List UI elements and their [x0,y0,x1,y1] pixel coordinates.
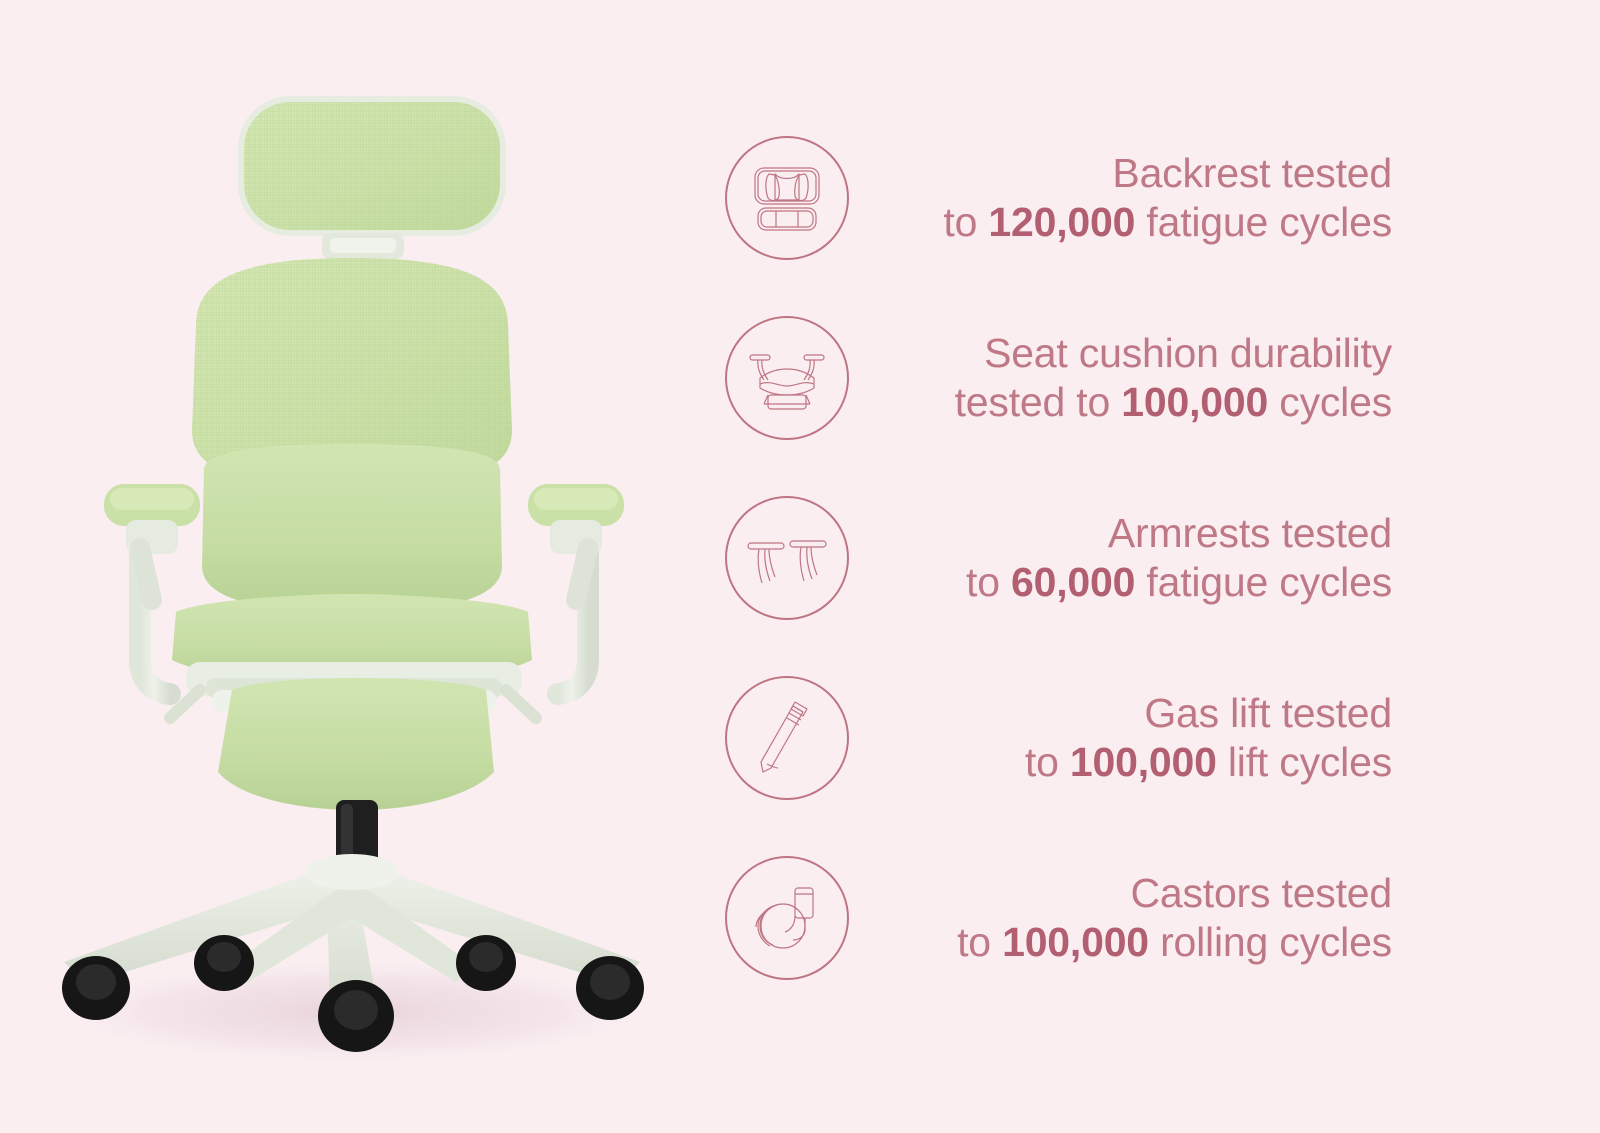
line2-prefix: tested to [955,379,1122,425]
feature-line-1: Armrests tested [849,509,1392,558]
armrest-right [528,484,624,600]
feature-line-2: to 100,000 rolling cycles [849,918,1392,967]
feature-line-2: tested to 100,000 cycles [849,378,1392,427]
feature-text-castors: Castors tested to 100,000 rolling cycles [849,869,1600,967]
line2-prefix: to [957,919,1002,965]
feature-line-1: Seat cushion durability [849,329,1392,378]
line2-suffix: cycles [1268,379,1392,425]
backrest-icon [725,136,849,260]
feature-line-2: to 120,000 fatigue cycles [849,198,1392,247]
feature-value: 120,000 [988,199,1135,245]
feature-text-gas-lift: Gas lift tested to 100,000 lift cycles [849,689,1600,787]
feature-value: 100,000 [1121,379,1268,425]
infographic-canvas: Backrest tested to 120,000 fatigue cycle… [0,0,1600,1133]
product-image [0,0,700,1133]
feature-line-2: to 100,000 lift cycles [849,738,1392,787]
feature-text-backrest: Backrest tested to 120,000 fatigue cycle… [849,149,1600,247]
feature-list: Backrest tested to 120,000 fatigue cycle… [700,0,1600,1133]
feature-line-2: to 60,000 fatigue cycles [849,558,1392,607]
armrests-icon [725,496,849,620]
feature-row-gas-lift: Gas lift tested to 100,000 lift cycles [700,648,1600,828]
feature-row-armrests: Armrests tested to 60,000 fatigue cycles [700,468,1600,648]
seat-cushion-icon [725,316,849,440]
feature-line-1: Backrest tested [849,149,1392,198]
seat-cushion [218,678,494,810]
office-chair-illustration [0,0,700,1133]
lumbar-cushion [202,444,502,612]
feature-text-seat-cushion: Seat cushion durability tested to 100,00… [849,329,1600,427]
line2-prefix: to [966,559,1011,605]
line2-prefix: to [943,199,988,245]
headrest [238,96,506,259]
feature-row-backrest: Backrest tested to 120,000 fatigue cycle… [700,108,1600,288]
feature-row-castors: Castors tested to 100,000 rolling cycles [700,828,1600,1008]
feature-line-1: Castors tested [849,869,1392,918]
feature-text-armrests: Armrests tested to 60,000 fatigue cycles [849,509,1600,607]
feature-value: 60,000 [1011,559,1135,605]
feature-value: 100,000 [1002,919,1149,965]
line2-suffix: rolling cycles [1149,919,1392,965]
gas-lift-icon [725,676,849,800]
line2-prefix: to [1025,739,1070,785]
castor-icon [725,856,849,980]
feature-value: 100,000 [1070,739,1217,785]
feature-line-1: Gas lift tested [849,689,1392,738]
armrest-left [104,484,200,600]
line2-suffix: lift cycles [1217,739,1392,785]
line2-suffix: fatigue cycles [1135,559,1392,605]
line2-suffix: fatigue cycles [1135,199,1392,245]
feature-row-seat-cushion: Seat cushion durability tested to 100,00… [700,288,1600,468]
